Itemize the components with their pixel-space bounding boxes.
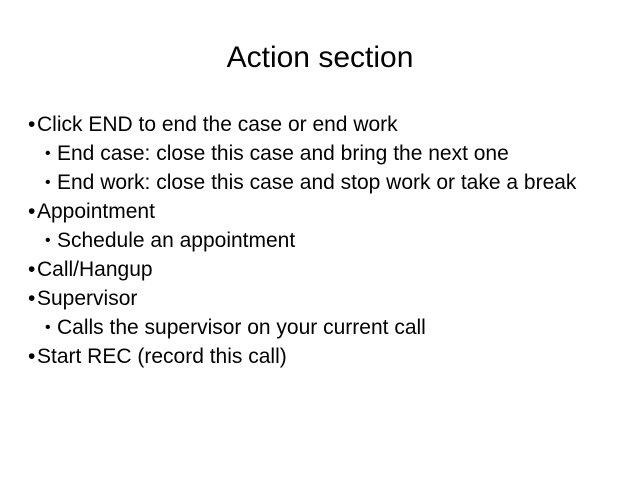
bullet-icon: • <box>28 255 35 284</box>
list-item: • Supervisor <box>28 284 612 313</box>
bullet-list: • Click END to end the case or end work … <box>28 110 612 371</box>
list-item-label: Schedule an appointment <box>57 226 612 255</box>
list-item-label: Start REC (record this call) <box>37 342 612 371</box>
bullet-icon: • <box>28 110 35 139</box>
slide-body: • Click END to end the case or end work … <box>28 110 612 371</box>
list-item: • Schedule an appointment <box>28 226 612 255</box>
list-item-label: Supervisor <box>37 284 612 313</box>
list-item-label: Calls the supervisor on your current cal… <box>57 313 612 342</box>
bullet-icon: • <box>28 284 35 313</box>
list-item-label: End case: close this case and bring the … <box>57 139 612 168</box>
bullet-icon: • <box>45 226 51 255</box>
list-item: • Call/Hangup <box>28 255 612 284</box>
list-item: • End work: close this case and stop wor… <box>28 168 612 197</box>
list-item: • Calls the supervisor on your current c… <box>28 313 612 342</box>
list-item: • Start REC (record this call) <box>28 342 612 371</box>
bullet-icon: • <box>28 197 35 226</box>
bullet-icon: • <box>45 168 51 197</box>
list-item: • End case: close this case and bring th… <box>28 139 612 168</box>
list-item: • Appointment <box>28 197 612 226</box>
page-title: Action section <box>0 40 640 76</box>
list-item-label: Click END to end the case or end work <box>37 110 612 139</box>
slide-canvas: Action section • Click END to end the ca… <box>0 0 640 480</box>
bullet-icon: • <box>45 313 51 342</box>
bullet-icon: • <box>28 342 35 371</box>
list-item-label: End work: close this case and stop work … <box>57 168 612 197</box>
list-item-label: Appointment <box>37 197 612 226</box>
list-item: • Click END to end the case or end work <box>28 110 612 139</box>
bullet-icon: • <box>45 139 51 168</box>
list-item-label: Call/Hangup <box>37 255 612 284</box>
